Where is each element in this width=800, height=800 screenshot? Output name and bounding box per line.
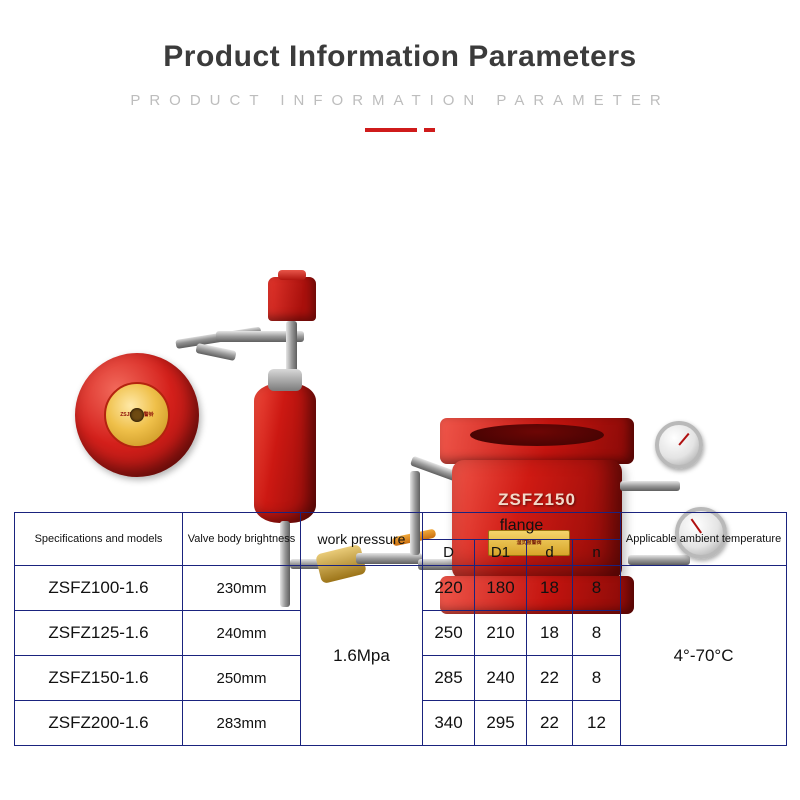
cell-brightness: 230mm xyxy=(183,566,301,611)
cell-flange-d1: 180 xyxy=(475,566,527,611)
cell-flange-dd: 22 xyxy=(527,701,573,746)
cell-flange-dd: 18 xyxy=(527,566,573,611)
cell-brightness: 250mm xyxy=(183,656,301,701)
cell-model: ZSFZ150-1.6 xyxy=(15,656,183,701)
cell-model: ZSFZ100-1.6 xyxy=(15,566,183,611)
page-title: Product Information Parameters xyxy=(0,40,800,74)
cell-flange-d: 220 xyxy=(423,566,475,611)
cell-flange-n: 12 xyxy=(573,701,621,746)
cell-flange-d1: 295 xyxy=(475,701,527,746)
cell-flange-d: 340 xyxy=(423,701,475,746)
header-flange-dd: d xyxy=(527,540,573,566)
cell-brightness: 240mm xyxy=(183,611,301,656)
pressure-gauge-upper-icon xyxy=(655,421,703,469)
cell-flange-dd: 18 xyxy=(527,611,573,656)
gong-hub xyxy=(130,408,144,422)
table-body: ZSFZ100-1.6 230mm 1.6Mpa 220 180 18 8 4°… xyxy=(15,566,787,746)
cell-flange-d1: 210 xyxy=(475,611,527,656)
header-brightness: Valve body brightness xyxy=(183,513,301,566)
header-flange-n: n xyxy=(573,540,621,566)
retard-chamber xyxy=(254,383,316,523)
table-head: Specifications and models Valve body bri… xyxy=(15,513,787,566)
cell-flange-d: 285 xyxy=(423,656,475,701)
page-header: Product Information Parameters PRODUCT I… xyxy=(0,0,800,133)
header-specifications: Specifications and models xyxy=(15,513,183,566)
cell-flange-n: 8 xyxy=(573,566,621,611)
header-work-pressure: work pressure xyxy=(301,513,423,566)
product-image: ZSJL 水力警铃 ZSFZ150 湿式报警阀 xyxy=(0,135,800,505)
cell-flange-dd: 22 xyxy=(527,656,573,701)
table-header-row-1: Specifications and models Valve body bri… xyxy=(15,513,787,540)
cell-brightness: 283mm xyxy=(183,701,301,746)
cell-work-pressure: 1.6Mpa xyxy=(301,566,423,746)
gauge-needle-upper xyxy=(678,433,689,446)
page-subtitle: PRODUCT INFORMATION PARAMETER xyxy=(0,92,800,109)
pipe-gong-elbow xyxy=(195,343,236,361)
cell-flange-d1: 240 xyxy=(475,656,527,701)
parameters-table-wrapper: Specifications and models Valve body bri… xyxy=(14,512,786,746)
divider-dot xyxy=(424,128,435,132)
cell-flange-n: 8 xyxy=(573,656,621,701)
parameters-table: Specifications and models Valve body bri… xyxy=(14,512,787,746)
valve-flange-top xyxy=(440,418,634,464)
header-flange-d1: D1 xyxy=(475,540,527,566)
product-parameters-page: Product Information Parameters PRODUCT I… xyxy=(0,0,800,800)
header-flange-d: D xyxy=(423,540,475,566)
header-flange: flange xyxy=(423,513,621,540)
water-motor-gong: ZSJL 水力警铃 xyxy=(75,353,199,477)
table-row: ZSFZ100-1.6 230mm 1.6Mpa 220 180 18 8 4°… xyxy=(15,566,787,611)
cell-flange-d: 250 xyxy=(423,611,475,656)
cell-model: ZSFZ125-1.6 xyxy=(15,611,183,656)
valve-model-text: ZSFZ150 xyxy=(452,490,622,510)
cell-ambient-temperature: 4°-70°C xyxy=(621,566,787,746)
title-divider xyxy=(0,127,800,133)
cell-flange-n: 8 xyxy=(573,611,621,656)
pipe-gauge-upper xyxy=(620,481,680,491)
divider-bar xyxy=(365,128,417,132)
header-ambient-temperature: Applicable ambient temperature xyxy=(621,513,787,566)
cell-model: ZSFZ200-1.6 xyxy=(15,701,183,746)
gong-motor-housing xyxy=(268,277,316,321)
